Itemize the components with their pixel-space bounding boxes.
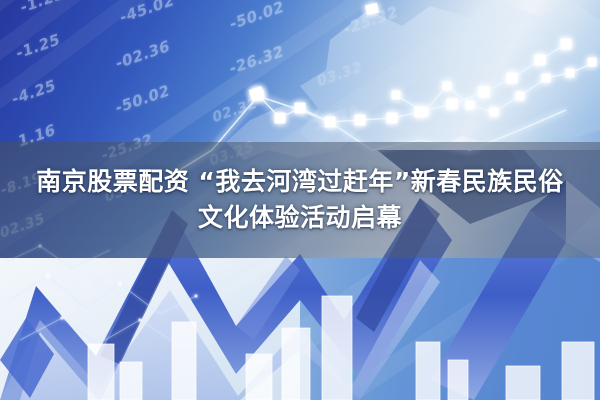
headline: 南京股票配资 “我去河湾过赶年”新春民族民俗 文化体验活动启幕 (0, 142, 600, 258)
stock-news-banner: -21.02-05.02-11.2545.024.36 -99.02-06.35… (0, 0, 600, 400)
background-lower-left-glow (0, 258, 300, 400)
headline-line-1: 南京股票配资 “我去河湾过赶年”新春民族民俗 (30, 167, 570, 198)
headline-line-2: 文化体验活动启幕 (198, 203, 402, 234)
